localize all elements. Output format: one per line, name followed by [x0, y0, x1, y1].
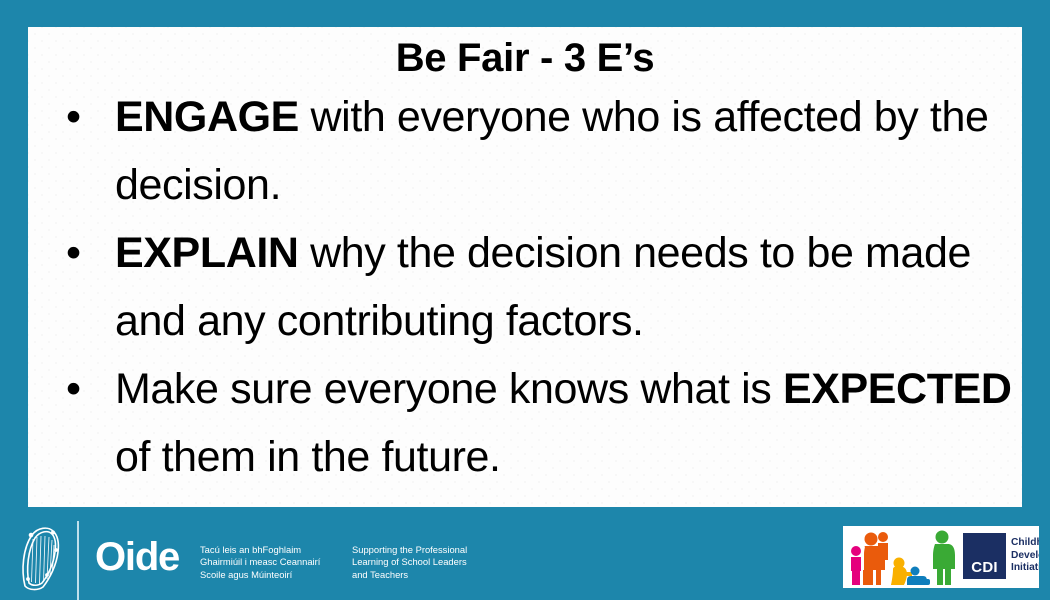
bullet-point-icon: • — [66, 219, 81, 287]
list-item: • EXPLAIN why the decision needs to be m… — [28, 219, 1022, 355]
cdi-name: Childhood Development Initiative — [1011, 537, 1039, 575]
page-title: Be Fair - 3 E’s — [28, 35, 1022, 81]
cdi-figures-icon — [843, 526, 961, 588]
list-item: • Make sure everyone knows what is EXPEC… — [28, 355, 1022, 491]
cdi-logo: CDI Childhood Development Initiative — [843, 526, 1039, 588]
oide-wordmark: Oide — [95, 536, 179, 578]
tagline-english: Supporting the Professional Learning of … — [352, 544, 467, 581]
bullet-point-icon: • — [66, 83, 81, 151]
cdi-abbreviation: CDI — [963, 559, 1006, 576]
bullet-1-keyword: ENGAGE — [115, 93, 299, 141]
tagline-irish: Tacú leis an bhFoghlaim Ghairmiúil i mea… — [200, 544, 320, 581]
bullet-3-keyword: EXPECTED — [783, 365, 1012, 413]
footer-divider — [77, 521, 79, 600]
bullet-3-text-rest: of them in the future. — [115, 433, 501, 481]
bullet-point-icon: • — [66, 355, 81, 423]
list-item: • ENGAGE with everyone who is affected b… — [28, 83, 1022, 219]
figure-pink — [851, 546, 861, 585]
bullet-list: • ENGAGE with everyone who is affected b… — [28, 83, 1022, 491]
slide-content-panel: Be Fair - 3 E’s • ENGAGE with everyone w… — [28, 27, 1022, 507]
figure-green — [933, 531, 955, 586]
irish-harp-icon — [18, 526, 64, 592]
cdi-mark: CDI — [963, 533, 1006, 579]
bullet-2-keyword: EXPLAIN — [115, 229, 299, 277]
bullet-3-text-lead: Make sure everyone knows what is — [115, 365, 783, 413]
